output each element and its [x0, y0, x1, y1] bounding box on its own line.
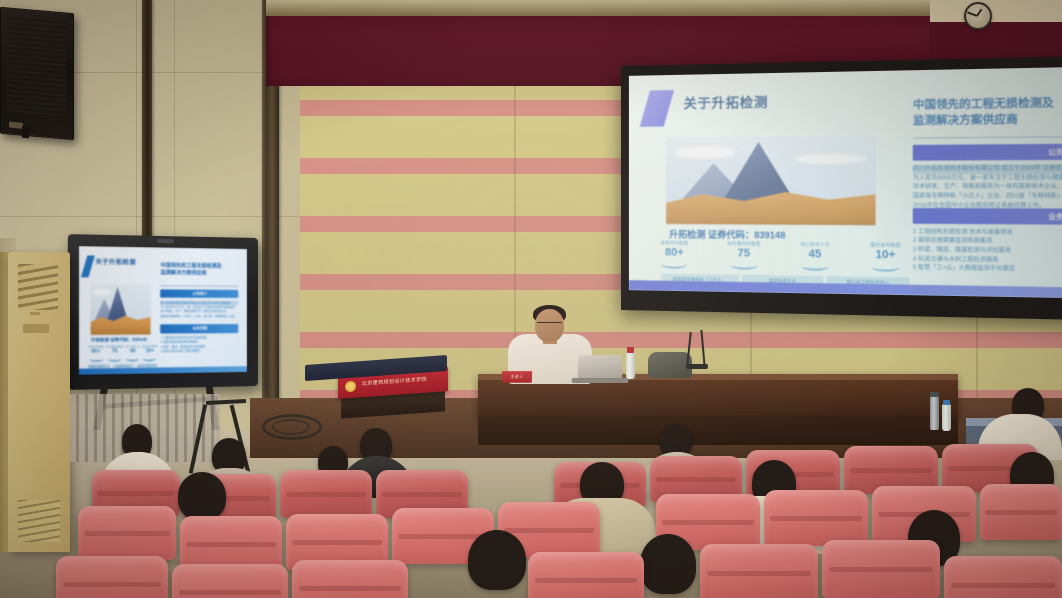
slide-divider	[913, 135, 1062, 139]
auditorium-seat[interactable]	[56, 556, 168, 598]
flat-panel-display: 关于升拓检测 升拓检测 证券代码：839148 中国领先的工程无损检测及 监测解…	[68, 234, 258, 390]
wall-clock-icon	[964, 2, 992, 30]
audience-head	[178, 472, 226, 520]
projected-slide: 关于升拓检测 升拓检测 证券代码：839148 中国领先的工程无损检测及 监测解…	[629, 63, 1062, 301]
auditorium-seat[interactable]	[292, 560, 408, 598]
slide-body-1: 四川升拓检测技术股份有限公司 成立于2009年 注册资本 为人民币5000万元，…	[913, 164, 1062, 212]
ac-display	[30, 312, 40, 315]
auditorium-seat[interactable]	[528, 552, 644, 598]
auditorium-seat[interactable]	[280, 470, 372, 518]
slide-section-bar-1: 公司简介	[913, 142, 1062, 160]
stat-item: 软件著作权数量 75	[727, 241, 760, 274]
slide-headline: 中国领先的工程无损检测及 监测解决方案供应商	[913, 92, 1062, 129]
stat-item: 发明专利数量 80+	[660, 240, 688, 273]
wall-pilaster-inner	[142, 0, 152, 240]
auditorium-seat[interactable]	[172, 564, 288, 598]
thermos	[930, 396, 939, 430]
water-bottle	[942, 404, 951, 431]
lecture-hall-photo: 关于升拓检测 升拓检测 证券代码：839148 中国领先的工程无损检测及 监测解…	[0, 0, 1062, 598]
speaker-mount	[22, 126, 29, 139]
stat-item: 核心技术人员 45	[800, 241, 829, 275]
audience-head	[468, 530, 526, 590]
slide-section-bar-2: 业务范围	[913, 207, 1062, 225]
slide-stats: 发明专利数量 80+ 软件著作权数量 75 核心技术人员 45	[660, 240, 900, 276]
lectern: 北京建筑规划设计技术学院	[305, 360, 447, 414]
slide-title: 关于升拓检测	[684, 92, 769, 113]
slide-photo	[666, 136, 875, 225]
slide-footer-bar	[629, 281, 1062, 302]
slide-body-2: 1 工程结构无损检测 技术与装备研发 2 基础设施健康监测系统集成 3 桥梁、隧…	[913, 228, 1062, 278]
ac-lower-vent	[18, 500, 60, 542]
auditorium-seat[interactable]	[980, 484, 1062, 540]
tv-brand-logo	[157, 239, 174, 243]
auditorium-seat[interactable]	[78, 506, 176, 560]
laptop[interactable]	[578, 355, 622, 379]
ac-control-panel[interactable]	[23, 324, 49, 333]
slide-accent-shape	[640, 90, 675, 127]
glasses-icon	[537, 322, 562, 326]
audience-head	[640, 534, 696, 594]
auditorium-seat[interactable]	[700, 544, 818, 598]
stat-item: 服务省市数量 10+	[871, 242, 901, 276]
tv-slide-mirror: 关于升拓检测 升拓检测 证券代码：839148 中国领先的工程无损检测及 监测解…	[79, 246, 247, 375]
table-skirt	[478, 415, 958, 445]
floor-air-conditioner	[8, 252, 70, 552]
cable-coil	[272, 419, 310, 435]
water-bottle	[626, 352, 635, 379]
auditorium-seat[interactable]	[822, 540, 940, 598]
lectern-sign-text: 北京建筑规划设计技术学院	[362, 374, 444, 387]
projection-screen: 关于升拓检测 升拓检测 证券代码：839148 中国领先的工程无损检测及 监测解…	[621, 52, 1062, 324]
ac-vent-icon	[18, 264, 58, 310]
wall-speaker-icon	[0, 7, 74, 140]
auditorium-seat[interactable]	[764, 490, 868, 546]
microphone-base	[686, 364, 708, 369]
institution-emblem-icon	[345, 381, 356, 393]
name-plate: 主讲人	[502, 371, 532, 383]
auditorium-seat[interactable]	[944, 556, 1062, 598]
